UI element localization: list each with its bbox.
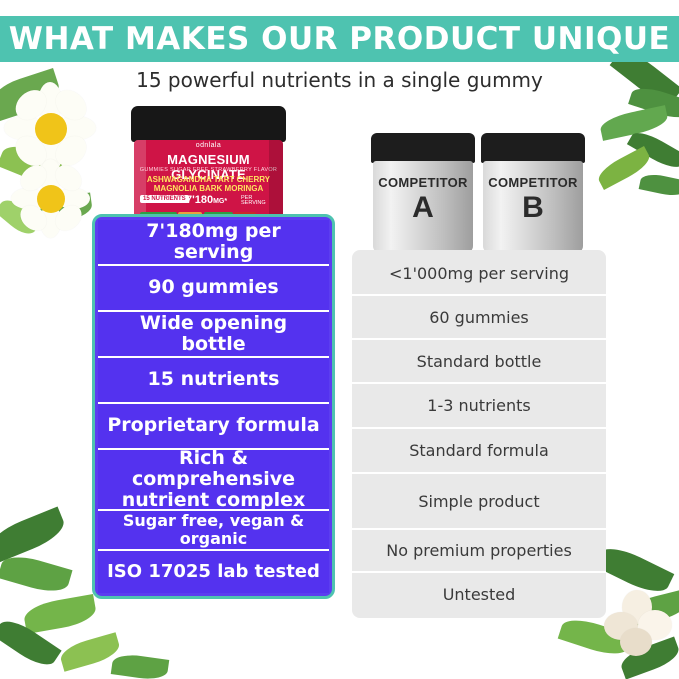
our-feature-row: 15 nutrients (98, 358, 329, 404)
page-subtitle: 15 powerful nutrients in a single gummy (0, 68, 679, 92)
serving-facts: 15 NUTRIENTS 7'180MG* PER SERVING (140, 195, 277, 207)
our-features-table: 7'180mg per serving 90 gummies Wide open… (92, 214, 335, 599)
leaf-icon (0, 551, 73, 597)
competitor-feature-row: Simple product (352, 474, 606, 530)
serving-unit-label: PER SERVING (241, 196, 277, 206)
magnolia-flower (604, 590, 674, 660)
competitor-feature-row: Standard bottle (352, 340, 606, 384)
product-subline: GUMMIES SUGAR FREE STRAWBERRY FLAVOR (134, 167, 283, 173)
competitor-feature-row: No premium properties (352, 530, 606, 573)
bottle-cap (371, 133, 475, 163)
competitor-feature-row: Untested (352, 573, 606, 616)
our-feature-row: Wide opening bottle (98, 312, 329, 358)
competitor-a-bottle: COMPETITOR A (371, 133, 475, 253)
bottle-label: COMPETITOR A (373, 161, 473, 253)
product-herbs-line1: ASHWAGANDHA TART CHERRY (134, 175, 283, 184)
bottle-cap (131, 106, 286, 142)
competitor-label: COMPETITOR (373, 175, 473, 190)
serving-amount: 7'180MG* (186, 194, 227, 206)
competitor-feature-row: Standard formula (352, 429, 606, 474)
our-feature-row: Rich & comprehensive nutrient complex (98, 450, 329, 511)
bottle-label: COMPETITOR B (483, 161, 583, 253)
leaf-icon (111, 652, 170, 679)
leaf-icon (639, 171, 679, 198)
competitor-letter: A (373, 191, 473, 225)
brand-name: odnlala (134, 142, 283, 149)
leaf-icon (22, 594, 98, 634)
our-feature-row: Proprietary formula (98, 404, 329, 450)
competitor-feature-row: 1-3 nutrients (352, 384, 606, 429)
our-feature-row: Sugar free, vegan & organic (98, 511, 329, 551)
competitor-feature-row: 60 gummies (352, 296, 606, 340)
competitor-letter: B (483, 191, 583, 225)
competitor-features-table: <1'000mg per serving 60 gummies Standard… (352, 250, 606, 618)
page-title: WHAT MAKES OUR PRODUCT UNIQUE (0, 16, 679, 62)
product-herbs-line2: MAGNOLIA BARK MORINGA (134, 184, 283, 193)
our-feature-row: ISO 17025 lab tested (98, 551, 329, 593)
our-feature-row: 90 gummies (98, 266, 329, 312)
nutrient-count-badge: 15 NUTRIENTS (140, 195, 189, 203)
leaf-icon (0, 506, 69, 563)
our-feature-row: 7'180mg per serving (98, 220, 329, 266)
product-herbs: ASHWAGANDHA TART CHERRY MAGNOLIA BARK MO… (134, 175, 283, 193)
competitor-b-bottle: COMPETITOR B (481, 133, 585, 253)
competitor-label: COMPETITOR (483, 175, 583, 190)
competitor-feature-row: <1'000mg per serving (352, 252, 606, 296)
daisy-flower (14, 162, 88, 236)
bottle-cap (481, 133, 585, 163)
